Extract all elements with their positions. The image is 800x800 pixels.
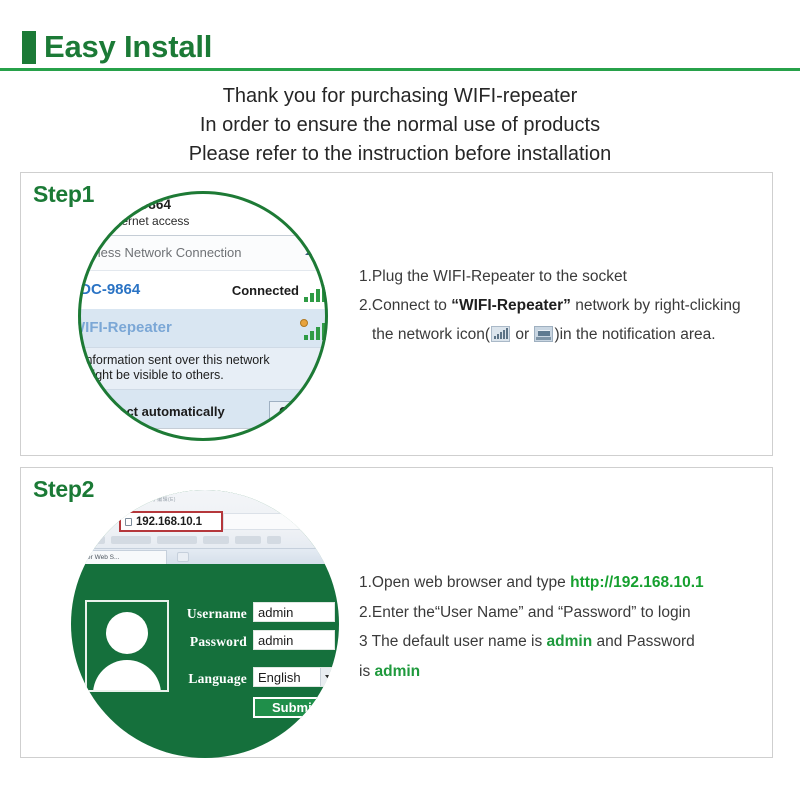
network-ssid: TDC-9864 xyxy=(78,281,140,298)
step1-instruction-2-cont: the network icon( or )in the notificatio… xyxy=(359,320,769,349)
address-bar-url: 192.168.10.1 xyxy=(136,516,202,528)
new-tab-icon[interactable] xyxy=(177,552,189,562)
avatar xyxy=(85,600,169,692)
login-form: Username admin Password admin Language E… xyxy=(179,602,335,695)
step1-circle-clip: TDC-9864 Internet access Wireless Networ… xyxy=(78,191,328,441)
header-divider xyxy=(0,68,800,71)
username-field[interactable]: admin xyxy=(253,602,335,622)
wireless-network-list: Wireless Network Connection TDC-9864 Con… xyxy=(78,235,328,429)
router-url: http://192.168.10.1 xyxy=(570,574,704,591)
step2-instruction-4-prefix: is xyxy=(359,663,375,680)
step1-instruction-3-prefix: the network icon( xyxy=(372,326,490,343)
username-label: Username xyxy=(179,606,247,622)
step1-network-name-quoted: “WIFI-Repeater” xyxy=(451,297,571,314)
browser-tab-strip: eater Web S... xyxy=(71,548,339,564)
step2-circle-graphic: 文件(F) 编辑(E) 192.168.10.1 ea xyxy=(71,490,339,758)
network-security-note: Information sent over this network might… xyxy=(78,347,328,390)
default-password-value: admin xyxy=(375,663,421,680)
step2-instruction-3: 3 The default user name is admin and Pas… xyxy=(359,627,771,657)
step2-instruction-3-suffix: and Password xyxy=(592,633,695,650)
password-row: Password admin xyxy=(179,630,335,653)
browser-tab-title: eater Web S... xyxy=(78,554,119,561)
browser-tab[interactable]: eater Web S... xyxy=(73,550,167,564)
language-value: English xyxy=(258,670,301,685)
intro-line-2: In order to ensure the normal use of pro… xyxy=(0,111,800,140)
step1-instruction-2-prefix: 2.Connect to xyxy=(359,297,451,314)
browser-chrome-mock: 文件(F) 编辑(E) 192.168.10.1 ea xyxy=(71,490,339,564)
note-line-2: might be visible to others. xyxy=(82,368,328,383)
network-connect-footer: Connect automatically Connect xyxy=(78,396,328,428)
step2-instructions: 1.Open web browser and type http://192.1… xyxy=(359,568,771,686)
language-select[interactable]: English xyxy=(253,667,335,687)
signal-strength-warning-icon xyxy=(303,318,328,340)
note-line-1: Information sent over this network xyxy=(82,353,328,368)
favicon-icon xyxy=(99,517,109,527)
network-list-header[interactable]: Wireless Network Connection xyxy=(78,236,328,271)
chevron-down-icon[interactable] xyxy=(320,668,334,686)
default-username-value: admin xyxy=(547,633,593,650)
connect-button-label: Connect xyxy=(279,405,328,419)
connect-automatically-label: Connect automatically xyxy=(86,404,225,419)
tooltip-status: Internet access xyxy=(108,214,189,228)
network-monitor-icon xyxy=(534,326,553,342)
intro-line-3: Please refer to the instruction before i… xyxy=(0,140,800,169)
step1-instruction-3-suffix: )in the notification area. xyxy=(554,326,715,343)
language-row: Language English xyxy=(179,667,335,690)
wifi-tooltip: TDC-9864 Internet access xyxy=(78,191,328,235)
wifi-flyout-mock: TDC-9864 Internet access Wireless Networ… xyxy=(78,191,328,429)
network-list-title: Wireless Network Connection xyxy=(78,245,242,260)
step1-instruction-or: or xyxy=(511,326,533,343)
avatar-body-icon xyxy=(93,660,161,692)
connect-automatically-checkbox[interactable] xyxy=(78,406,80,417)
username-row: Username admin xyxy=(179,602,335,625)
password-value: admin xyxy=(258,633,293,648)
language-label: Language xyxy=(179,671,247,687)
step1-instruction-2: 2.Connect to “WIFI-Repeater” network by … xyxy=(359,291,769,320)
network-row-connected[interactable]: TDC-9864 Connected xyxy=(78,271,328,309)
network-ssid: WIFI-Repeater xyxy=(78,319,172,336)
intro-line-1: Thank you for purchasing WIFI-repeater xyxy=(0,82,800,111)
step1-instructions: 1.Plug the WIFI-Repeater to the socket 2… xyxy=(359,262,769,349)
header-accent-mark xyxy=(22,31,36,64)
page-header: Easy Install xyxy=(0,0,800,72)
password-label: Password xyxy=(179,634,247,650)
page-title: Easy Install xyxy=(44,28,212,66)
step1-instruction-1: 1.Plug the WIFI-Repeater to the socket xyxy=(359,262,769,291)
tooltip-ssid: TDC-9864 xyxy=(108,197,171,212)
connect-button[interactable]: Connect xyxy=(269,401,328,424)
lock-icon xyxy=(125,518,132,526)
wifi-signal-icon xyxy=(84,206,104,224)
avatar-head-icon xyxy=(106,612,148,654)
signal-strength-icon xyxy=(303,280,328,302)
submit-button[interactable]: Submit xyxy=(253,697,335,718)
username-value: admin xyxy=(258,605,293,620)
intro-text-block: Thank you for purchasing WIFI-repeater I… xyxy=(0,82,800,169)
browser-toolbar xyxy=(89,536,339,545)
address-bar-remainder[interactable] xyxy=(223,513,339,530)
step2-instruction-1: 1.Open web browser and type http://192.1… xyxy=(359,568,771,598)
chevron-up-icon[interactable] xyxy=(305,249,317,255)
step2-instruction-2: 2.Enter the“User Name” and “Password” to… xyxy=(359,598,771,628)
step1-panel: Step1 TDC-9864 Internet access xyxy=(20,172,773,456)
network-status: Connected xyxy=(232,283,299,298)
address-bar-highlight[interactable]: 192.168.10.1 xyxy=(119,511,223,532)
network-row-selected[interactable]: WIFI-Repeater xyxy=(78,309,328,347)
network-bars-icon xyxy=(491,326,510,342)
step2-instruction-3-prefix: 3 The default user name is xyxy=(359,633,547,650)
step2-instruction-3-cont: is admin xyxy=(359,657,771,687)
password-field[interactable]: admin xyxy=(253,630,335,650)
step2-instruction-1-prefix: 1.Open web browser and type xyxy=(359,574,570,591)
browser-menu-strip: 文件(F) 编辑(E) xyxy=(137,496,176,503)
step1-instruction-2-suffix: network by right-clicking xyxy=(571,297,741,314)
step2-illustration: 文件(F) 编辑(E) 192.168.10.1 ea xyxy=(63,480,363,748)
step1-illustration: TDC-9864 Internet access Wireless Networ… xyxy=(63,187,343,449)
step2-panel: Step2 文件(F) 编辑(E) 192.168.10.1 xyxy=(20,467,773,758)
